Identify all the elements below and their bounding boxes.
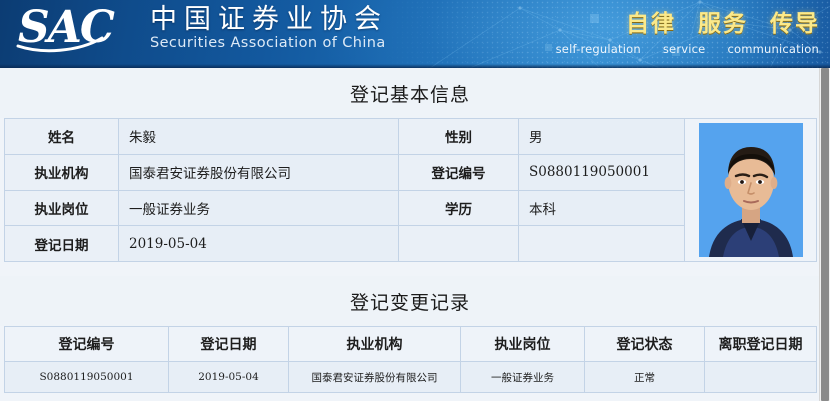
slogan-cn-3: 传导: [770, 4, 820, 38]
slogan-cn-2: 服务: [698, 4, 748, 38]
label-education: 学历: [399, 190, 519, 226]
label-institution: 执业机构: [5, 154, 119, 190]
slogan-en-1: self-regulation: [556, 42, 641, 56]
vertical-scrollbar[interactable]: [819, 68, 830, 401]
label-registration-number: 登记编号: [399, 154, 519, 190]
site-logo[interactable]: SAC 中国证券业协会 Securities Association of Ch…: [16, 2, 388, 58]
slogan-en-2: service: [663, 42, 706, 56]
column-header-registration-date: 登记日期: [169, 327, 289, 362]
status-badge: 正常: [585, 362, 705, 393]
slogan-cn-1: 自律: [626, 4, 676, 38]
column-header-departure-date: 离职登记日期: [705, 327, 817, 362]
label-registration-date: 登记日期: [5, 226, 119, 262]
scrollbar-thumb[interactable]: [821, 68, 829, 401]
portrait-cell: [685, 119, 817, 262]
banner-slogan: 自律 服务 传导 self-regulation service communi…: [556, 4, 820, 56]
org-name-en: Securities Association of China: [150, 35, 388, 51]
cell-position: 一般证券业务: [461, 362, 585, 393]
table-row: 姓名 朱毅 性别 男: [5, 119, 817, 155]
label-empty: [399, 226, 519, 262]
cell-institution: 国泰君安证券股份有限公司: [289, 362, 461, 393]
cell-registration-date: 2019-05-04: [169, 362, 289, 393]
value-registration-number: S0880119050001: [519, 154, 685, 190]
basic-info-table: 姓名 朱毅 性别 男: [4, 118, 817, 262]
value-name: 朱毅: [119, 119, 399, 155]
value-position: 一般证券业务: [119, 190, 399, 226]
svg-text:SAC: SAC: [18, 2, 115, 53]
portrait-photo: [699, 123, 803, 257]
table-header-row: 登记编号 登记日期 执业机构 执业岗位 登记状态 离职登记日期: [5, 327, 817, 362]
table-row: S0880119050001 2019-05-04 国泰君安证券股份有限公司 一…: [5, 362, 817, 393]
value-institution: 国泰君安证券股份有限公司: [119, 154, 399, 190]
column-header-institution: 执业机构: [289, 327, 461, 362]
label-name: 姓名: [5, 119, 119, 155]
column-header-registration-number: 登记编号: [5, 327, 169, 362]
cell-registration-number: S0880119050001: [5, 362, 169, 393]
label-position: 执业岗位: [5, 190, 119, 226]
column-header-position: 执业岗位: [461, 327, 585, 362]
column-header-status: 登记状态: [585, 327, 705, 362]
site-banner: SAC 中国证券业协会 Securities Association of Ch…: [0, 0, 830, 68]
label-gender: 性别: [399, 119, 519, 155]
cell-departure-date: [705, 362, 817, 393]
page-content: 登记基本信息 姓名 朱毅 性别 男: [0, 68, 820, 401]
sac-logo-icon: SAC: [16, 2, 136, 58]
slogan-en-3: communication: [727, 42, 819, 56]
value-registration-date: 2019-05-04: [119, 226, 399, 262]
change-record-title: 登记变更记录: [0, 276, 820, 326]
basic-info-title: 登记基本信息: [0, 68, 820, 118]
change-record-table: 登记编号 登记日期 执业机构 执业岗位 登记状态 离职登记日期 S0880119…: [4, 326, 817, 393]
value-empty: [519, 226, 685, 262]
org-name-cn: 中国证券业协会: [150, 5, 388, 34]
value-education: 本科: [519, 190, 685, 226]
value-gender: 男: [519, 119, 685, 155]
